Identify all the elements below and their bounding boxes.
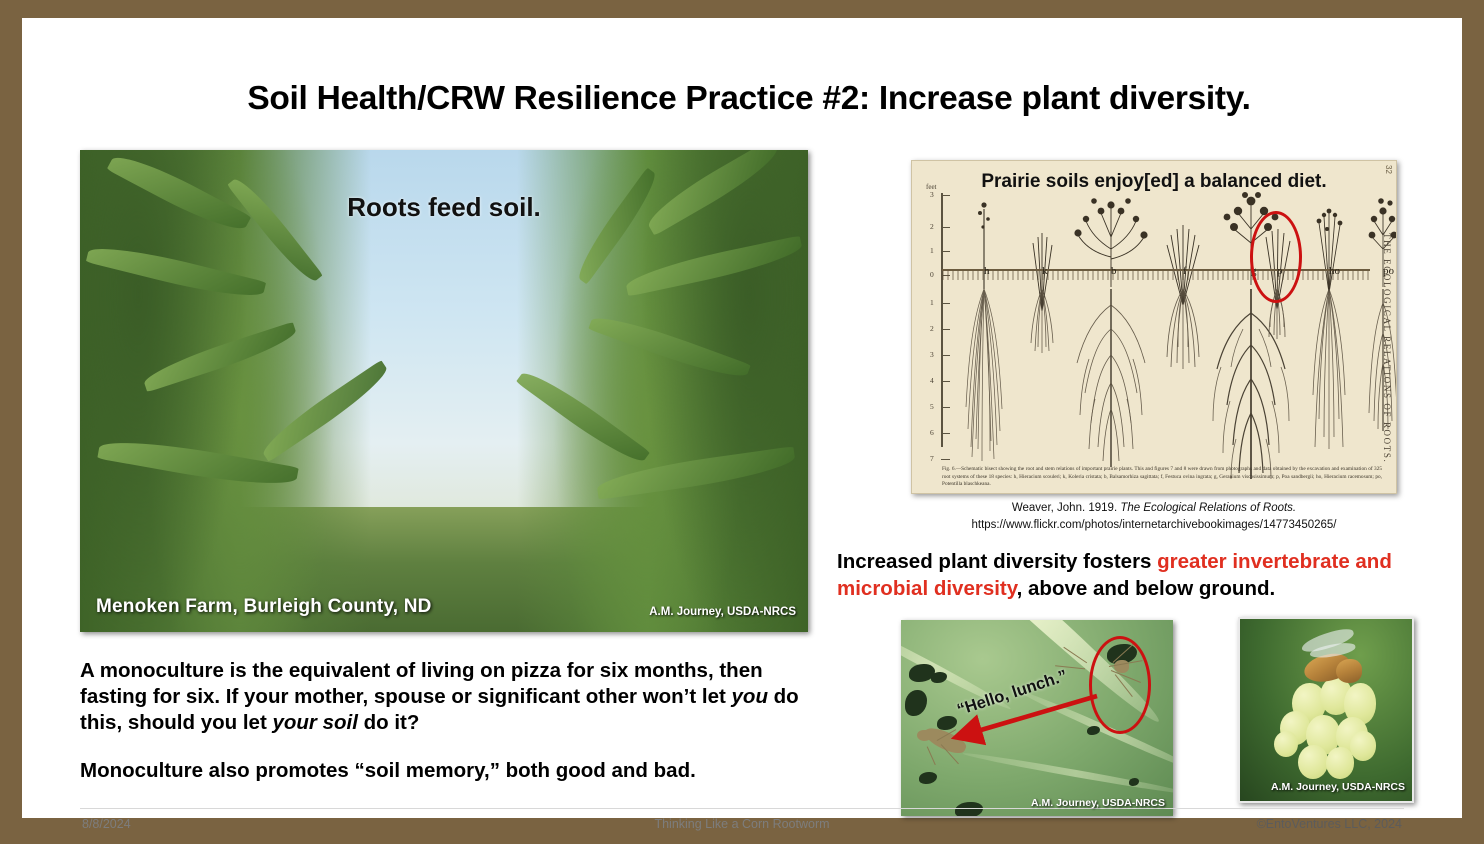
plant-label: h xyxy=(984,265,990,277)
scale-tick: 2 xyxy=(941,227,950,228)
paragraph-spacer xyxy=(80,736,820,758)
slide-canvas: Soil Health/CRW Resilience Practice #2: … xyxy=(22,18,1462,818)
citation-url: https://www.flickr.com/photos/internetar… xyxy=(911,517,1397,534)
plant-roots xyxy=(1303,289,1355,453)
footer-presentation-title: Thinking Like a Corn Rootworm xyxy=(22,817,1462,831)
flower-petal xyxy=(1326,747,1354,779)
body-paragraph-1: A monoculture is the equivalent of livin… xyxy=(80,658,820,736)
plate-figure-caption: Fig. 6.—Schematic bisect showing the roo… xyxy=(942,466,1382,489)
scale-tick: 1 xyxy=(941,251,950,252)
depth-scale-axis: feet 3 2 1 0 1 2 3 4 5 6 7 xyxy=(924,183,954,447)
scale-tick: 3 xyxy=(941,195,950,196)
statement-part-2: , above and below ground. xyxy=(1017,577,1276,600)
soil-surface-line xyxy=(942,269,1370,271)
prairie-plant: f xyxy=(1158,179,1208,453)
scale-tick: 3 xyxy=(941,355,950,356)
red-arrow xyxy=(901,620,1173,816)
flower-petal xyxy=(1350,731,1376,761)
citation-title: The Ecological Relations of Roots. xyxy=(1120,502,1296,514)
flower-petal xyxy=(1298,745,1328,779)
scale-axis-line xyxy=(941,193,943,447)
scale-tick: 5 xyxy=(941,407,950,408)
prairie-plant: ho xyxy=(1302,179,1356,453)
citation-line-1: Weaver, John. 1919. The Ecological Relat… xyxy=(911,500,1397,517)
bee-pollinator-photo: A.M. Journey, USDA-NRCS xyxy=(1238,617,1414,803)
prairie-roots-diagram: Prairie soils enjoy[ed] a balanced diet.… xyxy=(911,160,1397,494)
body-p1-emphasis-you: you xyxy=(732,685,768,708)
flower-petal xyxy=(1274,731,1298,757)
statement-part-1: Increased plant diversity fosters xyxy=(837,550,1157,573)
leaf-predator-photo: “Hello, lunch.” A.M. Journey, USDA-NRCS xyxy=(901,620,1173,816)
corn-photo-credit: A.M. Journey, USDA-NRCS xyxy=(649,606,796,618)
footer-divider xyxy=(80,808,1404,809)
bee-photo-credit: A.M. Journey, USDA-NRCS xyxy=(1271,781,1405,793)
footer-copyright: ©EntoVentures LLC, 2024 xyxy=(1257,817,1402,831)
corn-photo-overlay-text: Roots feed soil. xyxy=(80,192,808,223)
prairie-plant: k xyxy=(1020,179,1064,453)
plant-label: f xyxy=(1183,265,1187,277)
soil-surface-texture xyxy=(942,271,1370,280)
body-text-block: A monoculture is the equivalent of livin… xyxy=(80,658,820,784)
plate-citation: Weaver, John. 1919. The Ecological Relat… xyxy=(911,500,1397,533)
plant-label: k xyxy=(1042,265,1048,277)
bee-thorax xyxy=(1336,659,1362,683)
corn-photo-caption: Menoken Farm, Burleigh County, ND xyxy=(96,596,432,618)
body-p1-part-a: A monoculture is the equivalent of livin… xyxy=(80,659,763,708)
plant-label: po xyxy=(1383,265,1394,277)
body-p1-part-c: do it? xyxy=(358,711,419,734)
red-highlight-ellipse xyxy=(1250,211,1302,303)
leaf-photo-credit: A.M. Journey, USDA-NRCS xyxy=(1031,797,1165,809)
plant-roots xyxy=(957,289,1011,465)
plant-label: b xyxy=(1111,265,1117,277)
plant-roots xyxy=(1161,289,1205,371)
scale-tick: 1 xyxy=(941,303,950,304)
plant-roots xyxy=(1359,289,1397,439)
body-p1-emphasis-your-soil: your soil xyxy=(272,711,357,734)
diversity-statement: Increased plant diversity fosters greate… xyxy=(837,549,1417,602)
plant-label: ho xyxy=(1329,265,1340,277)
prairie-plant: b xyxy=(1068,179,1154,453)
page-title: Soil Health/CRW Resilience Practice #2: … xyxy=(84,80,1414,118)
prairie-plant: po xyxy=(1358,179,1397,453)
scale-tick: 4 xyxy=(941,381,950,382)
plant-roots xyxy=(1069,289,1153,475)
body-paragraph-2: Monoculture also promotes “soil memory,”… xyxy=(80,758,820,784)
citation-author-year: Weaver, John. 1919. xyxy=(1012,502,1120,514)
prairie-plate-title: Prairie soils enjoy[ed] a balanced diet. xyxy=(912,171,1396,193)
scale-tick: 2 xyxy=(941,329,950,330)
corn-field-photo: Roots feed soil. Menoken Farm, Burleigh … xyxy=(80,150,808,632)
slide-border: Soil Health/CRW Resilience Practice #2: … xyxy=(0,0,1484,844)
prairie-plant: h xyxy=(956,179,1012,453)
scale-tick: 6 xyxy=(941,433,950,434)
scale-tick: 7 xyxy=(941,459,950,460)
plant-roots xyxy=(1025,289,1059,355)
